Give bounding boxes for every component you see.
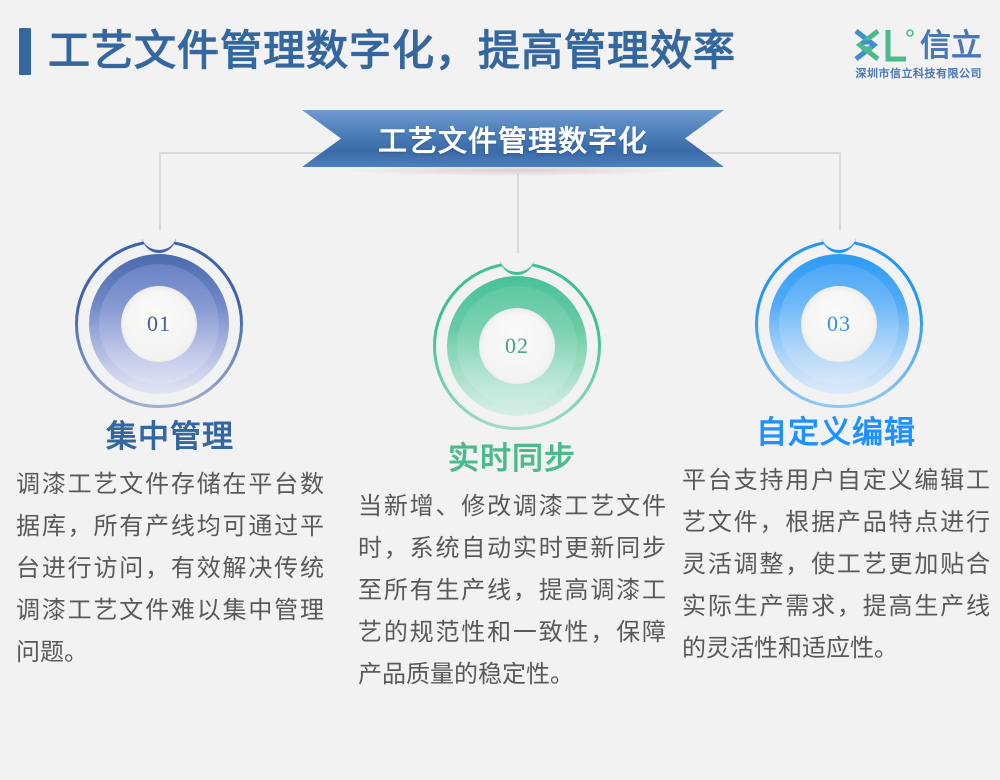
circle-notch-mask <box>819 231 859 239</box>
section-banner: 工艺文件管理数字化 <box>302 110 724 176</box>
feature-body-01: 调漆工艺文件存储在平台数据库，所有产线均可通过平台进行访问，有效解决传统调漆工艺… <box>10 464 330 674</box>
feature-title-02: 实时同步 <box>352 440 672 478</box>
feature-body-02: 当新增、修改调漆工艺文件时，系统自动实时更新同步至所有生产线，提高调漆工艺的规范… <box>352 486 672 696</box>
circle-ring-outer <box>75 240 243 408</box>
feature-column-02: 实时同步 当新增、修改调漆工艺文件时，系统自动实时更新同步至所有生产线，提高调漆… <box>352 440 672 696</box>
feature-column-01: 集中管理 调漆工艺文件存储在平台数据库，所有产线均可通过平台进行访问，有效解决传… <box>10 418 330 674</box>
step-circle-02: 02 <box>433 262 601 430</box>
feature-column-03: 自定义编辑 平台支持用户自定义编辑工艺文件，根据产品特点进行灵活调整，使工艺更加… <box>676 414 996 670</box>
feature-body-03: 平台支持用户自定义编辑工艺文件，根据产品特点进行灵活调整，使工艺更加贴合实际生产… <box>676 460 996 670</box>
infographic-canvas: 工艺文件管理数字化，提高管理效率 信立 <box>0 0 1000 780</box>
circle-ring-outer <box>755 240 923 408</box>
circle-ring-outer <box>433 262 601 430</box>
step-circle-03: 03 <box>755 240 923 408</box>
feature-title-03: 自定义编辑 <box>676 414 996 452</box>
feature-title-01: 集中管理 <box>10 418 330 456</box>
circle-notch-mask <box>139 231 179 239</box>
circle-notch-mask <box>497 253 537 261</box>
banner-label: 工艺文件管理数字化 <box>302 110 724 167</box>
step-circle-01: 01 <box>75 240 243 408</box>
